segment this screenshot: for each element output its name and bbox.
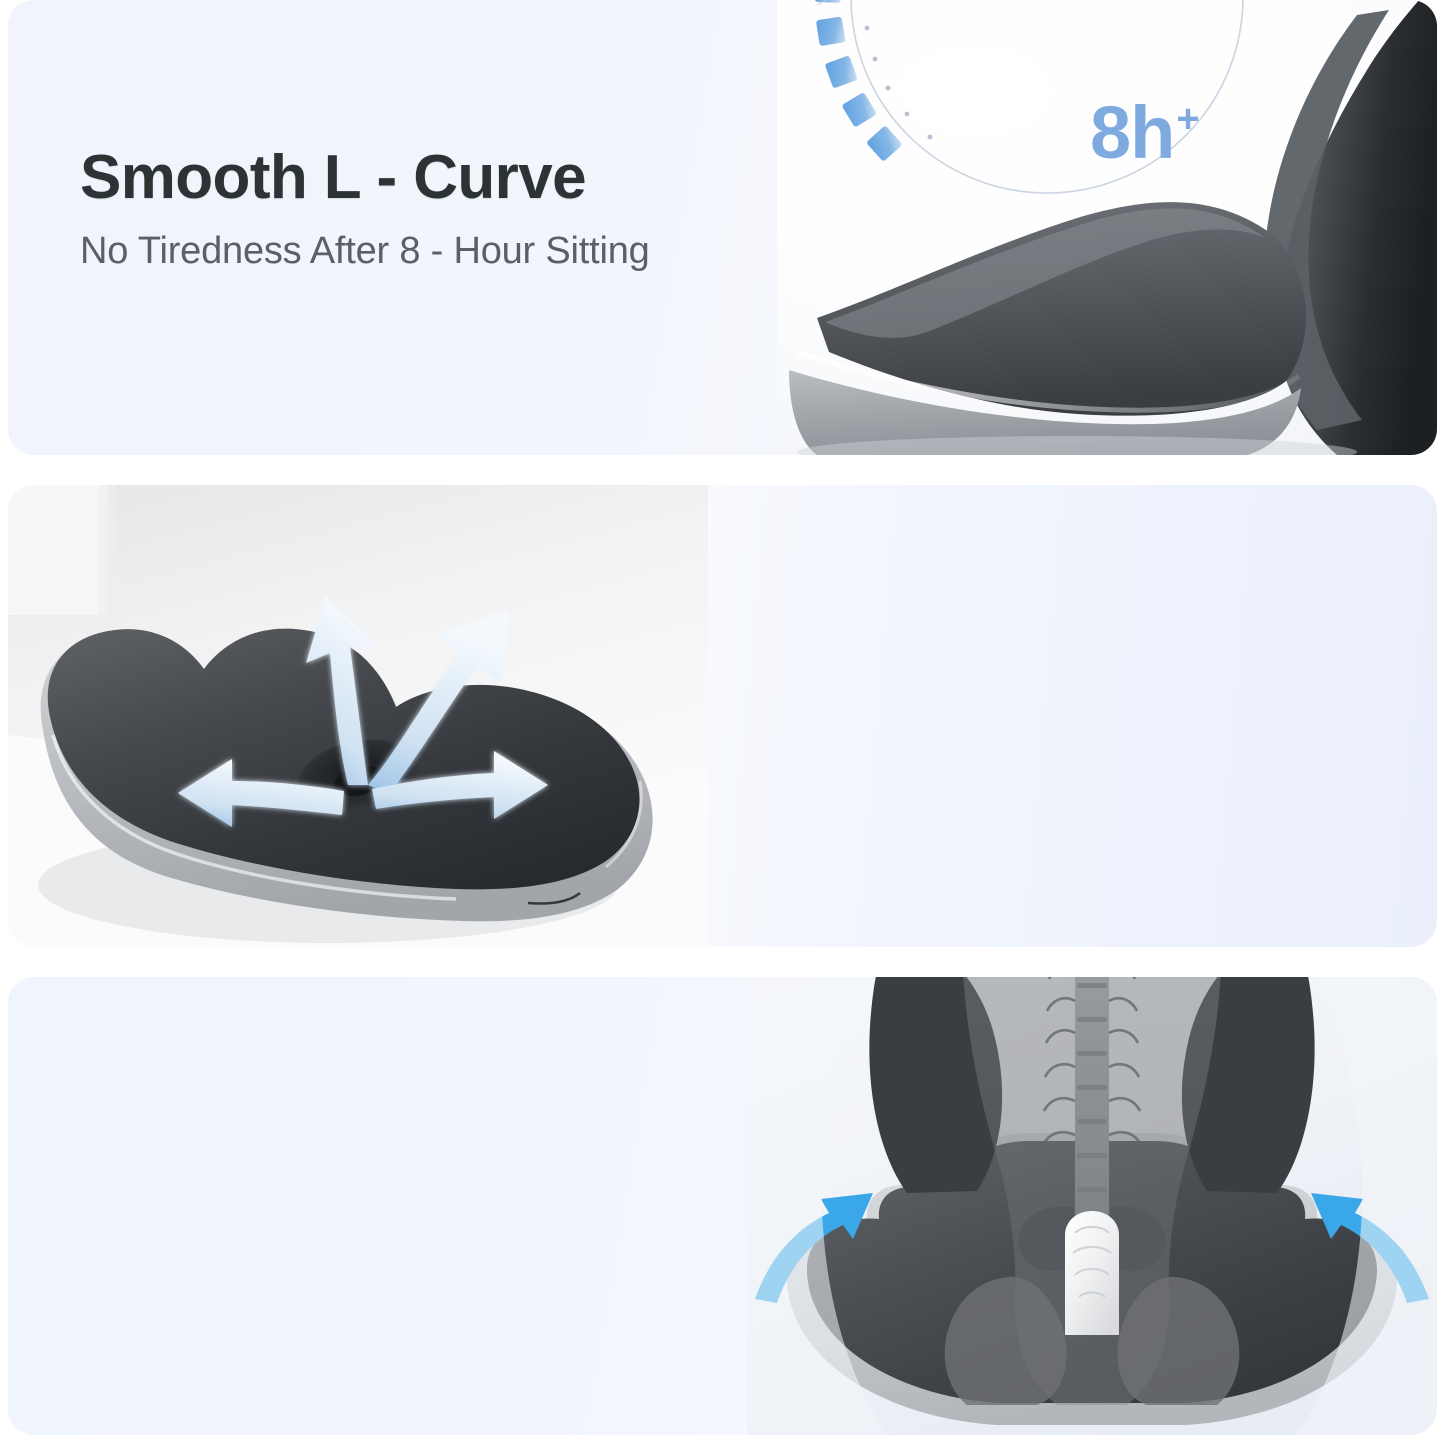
feature-panel-fits-spinal-curve: Fits the Spinal Curve comfortable leg pr… — [8, 977, 1437, 1435]
feature-panel-smooth-l-curve: Smooth L - Curve No Tiredness After 8 - … — [8, 0, 1437, 455]
cushion-top-view-photo — [8, 485, 708, 947]
feature-panel-enlarged-hollow-design: Enlarged Hollow Design Painful Areas Avo… — [8, 485, 1437, 947]
panel-1-headline: Smooth L - Curve — [80, 145, 650, 211]
coccyx-relief-channel-icon — [1065, 1211, 1119, 1335]
badge-suffix: + — [1176, 97, 1198, 141]
badge-value: 8h — [1090, 91, 1174, 174]
panel-1-subline: No Tiredness After 8 - Hour Sitting — [80, 229, 650, 275]
panel-1-text-block: Smooth L - Curve No Tiredness After 8 - … — [80, 145, 650, 274]
dial-guide-line-icon — [777, 0, 1437, 455]
spine-overlay-illustration — [747, 977, 1437, 1435]
eight-hour-badge: 8h+ — [1090, 96, 1199, 170]
chair-profile-photo — [777, 0, 1437, 455]
infographic-page: Smooth L - Curve No Tiredness After 8 - … — [0, 0, 1445, 1435]
